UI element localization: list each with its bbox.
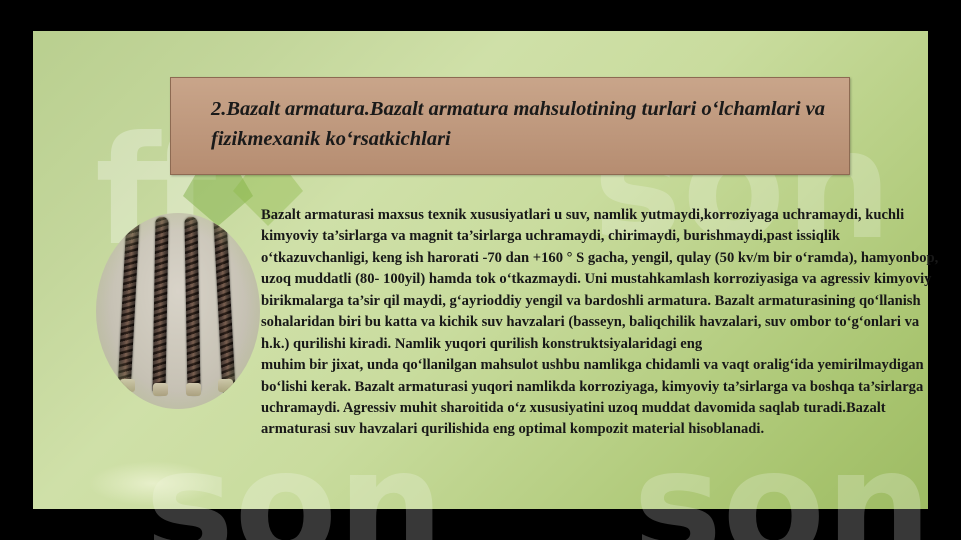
light-blob-decoration — [88, 461, 218, 506]
presentation-slide: ff son son son 2.Bazalt armatura.Bazalt … — [0, 0, 961, 540]
photo-vignette — [96, 213, 260, 409]
watermark-letters-bottom-left: son — [145, 431, 444, 540]
slide-title: 2.Bazalt armatura.Bazalt armatura mahsul… — [211, 95, 831, 154]
slide-body-text: Bazalt armaturasi maxsus texnik xususiya… — [261, 205, 951, 441]
slide-title-box: 2.Bazalt armatura.Bazalt armatura mahsul… — [170, 77, 850, 175]
basalt-rebar-photo — [96, 213, 260, 409]
slide-content-panel: ff son son son 2.Bazalt armatura.Bazalt … — [33, 31, 928, 509]
watermark-letters-bottom-right: son — [633, 431, 932, 540]
